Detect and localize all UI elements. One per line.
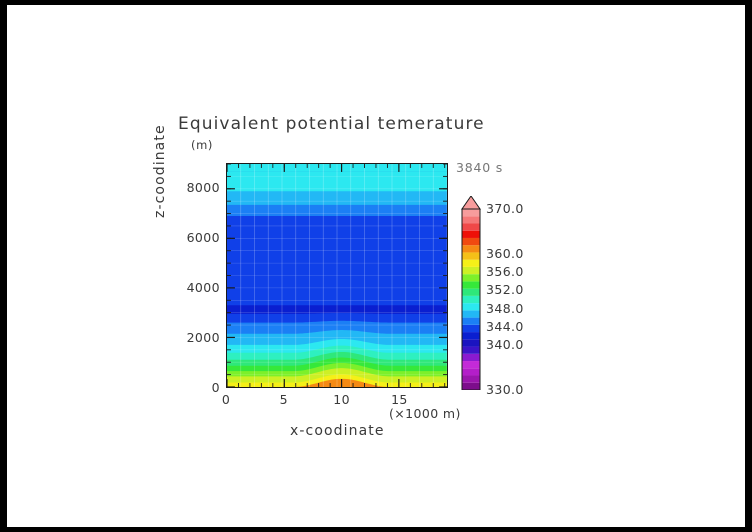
colorbar-svg [461,196,481,390]
colorbar-tick-label: 344.0 [486,319,524,334]
colorbar-tick-label: 330.0 [486,382,524,397]
colorbar-tick-label: 340.0 [486,337,524,352]
x-axis-unit-label: (×1000 m) [389,406,461,421]
x-axis-tick-label: 0 [222,392,230,407]
y-axis-tick-label: 4000 [187,280,220,295]
y-axis-tick-label: 2000 [187,330,220,345]
colorbar-bands [462,209,480,390]
colorbar-tick-label: 356.0 [486,264,524,279]
value-unit-label: (m) [191,138,213,152]
contour-plot-area [226,163,448,388]
y-axis-title: z-coodinate [152,88,168,218]
colorbar-tick-labels: 370.0360.0356.0352.0348.0344.0340.0330.0 [486,190,546,395]
colorbar-tick-label: 348.0 [486,301,524,316]
colorbar-tick-label: 352.0 [486,282,524,297]
chart-title: Equivalent potential temerature [178,114,485,134]
y-axis-tick-label: 6000 [187,230,220,245]
contour-plot-svg [227,164,447,387]
time-annotation: 3840 s [456,160,503,175]
y-axis-tick-label: 0 [212,380,220,395]
x-axis-tick-label: 15 [391,392,408,407]
colorbar-extend-arrow-icon [462,196,480,209]
colorbar-tick-label: 360.0 [486,246,524,261]
figure-canvas: 02000400060008000 051015 Equivalent pote… [0,0,752,532]
colorbar-tick-label: 370.0 [486,201,524,216]
y-axis-tick-labels: 02000400060008000 [180,163,220,388]
x-axis-tick-label: 5 [280,392,288,407]
x-axis-tick-label: 10 [333,392,350,407]
colorbar [461,196,481,390]
x-axis-title: x-coodinate [290,423,385,439]
y-axis-tick-label: 8000 [187,180,220,195]
